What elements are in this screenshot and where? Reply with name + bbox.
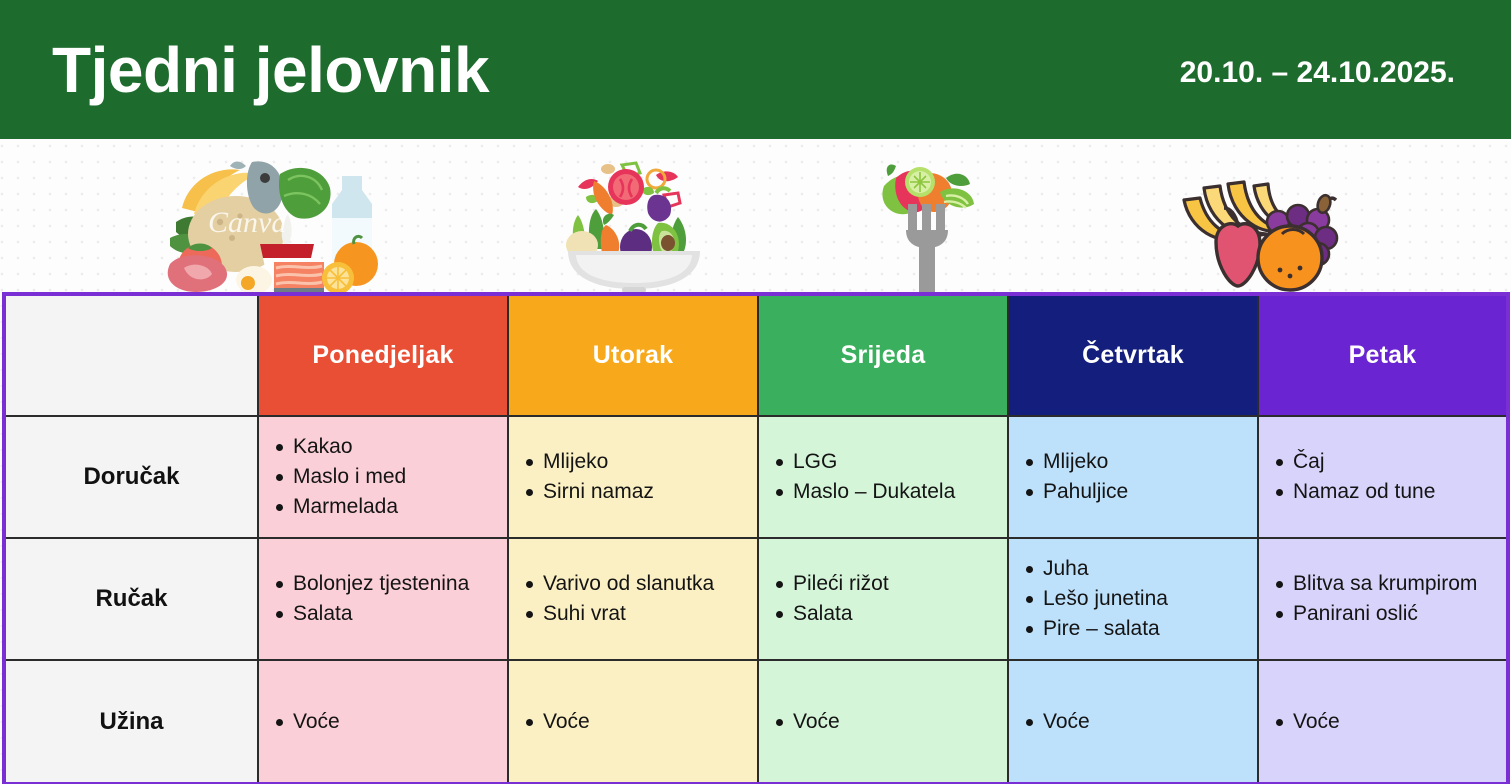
menu-item: Salata [793,599,993,629]
menu-item: Voće [1043,707,1243,737]
menu-item: Suhi vrat [543,599,743,629]
menu-item-list: JuhaLešo junetinaPire – salata [1009,554,1257,644]
menu-item-list: Voće [509,707,757,737]
menu-item-list: Voće [759,707,1007,737]
cell-dorucak-utorak: MlijekoSirni namaz [508,416,758,538]
header-banner: Tjedni jelovnik 20.10. – 24.10.2025. [0,0,1511,139]
cell-rucak-petak: Blitva sa krumpiromPanirani oslić [1258,538,1508,660]
menu-item-list: Pileći rižotSalata [759,569,1007,629]
menu-item-list: ČajNamaz od tune [1259,447,1506,507]
cell-dorucak-cetvrtak: MlijekoPahuljice [1008,416,1258,538]
menu-item: Čaj [1293,447,1492,477]
fork-with-vegetables-illustration [862,156,990,294]
meal-label-dorucak: Doručak [4,416,258,538]
header-row: Ponedjeljak Utorak Srijeda Četvrtak Peta… [4,294,1508,416]
menu-item-list: KakaoMaslo i medMarmelada [259,432,507,522]
weekly-menu-poster: Tjedni jelovnik 20.10. – 24.10.2025. [0,0,1511,784]
menu-item: Voće [1293,707,1492,737]
mixed-food-illustration: Canva [148,156,386,294]
menu-item-list: Voće [259,707,507,737]
page-title: Tjedni jelovnik [52,38,489,102]
meal-label-rucak: Ručak [4,538,258,660]
day-header-ponedjeljak: Ponedjeljak [258,294,508,416]
cell-dorucak-ponedjeljak: KakaoMaslo i medMarmelada [258,416,508,538]
cell-rucak-ponedjeljak: Bolonjez tjesteninaSalata [258,538,508,660]
table-row-rucak: Ručak Bolonjez tjesteninaSalata Varivo o… [4,538,1508,660]
menu-item-list: Voće [1259,707,1506,737]
menu-item: Juha [1043,554,1243,584]
table-body: Doručak KakaoMaslo i medMarmelada Mlijek… [4,416,1508,784]
menu-item: Mlijeko [1043,447,1243,477]
cell-uzina-utorak: Voće [508,660,758,784]
day-header-utorak: Utorak [508,294,758,416]
menu-item: Voće [543,707,743,737]
menu-item-list: LGGMaslo – Dukatela [759,447,1007,507]
menu-item: Marmelada [293,492,493,522]
fruits-illustration [1172,164,1352,294]
cell-dorucak-petak: ČajNamaz od tune [1258,416,1508,538]
svg-text:Canva: Canva [208,206,286,239]
menu-item: Mlijeko [543,447,743,477]
cell-uzina-ponedjeljak: Voće [258,660,508,784]
menu-item: Maslo – Dukatela [793,477,993,507]
menu-item-list: MlijekoSirni namaz [509,447,757,507]
day-header-cetvrtak: Četvrtak [1008,294,1258,416]
weekly-menu-table: Ponedjeljak Utorak Srijeda Četvrtak Peta… [2,292,1510,784]
cell-uzina-petak: Voće [1258,660,1508,784]
table-corner-cell [4,294,258,416]
meal-label-uzina: Užina [4,660,258,784]
menu-item: Blitva sa krumpirom [1293,569,1492,599]
cell-uzina-cetvrtak: Voće [1008,660,1258,784]
cell-dorucak-srijeda: LGGMaslo – Dukatela [758,416,1008,538]
menu-item: Pileći rižot [793,569,993,599]
menu-item: Voće [293,707,493,737]
menu-item: Panirani oslić [1293,599,1492,629]
cell-rucak-cetvrtak: JuhaLešo junetinaPire – salata [1008,538,1258,660]
table-header: Ponedjeljak Utorak Srijeda Četvrtak Peta… [4,294,1508,416]
date-range: 20.10. – 24.10.2025. [1180,50,1455,90]
menu-item-list: MlijekoPahuljice [1009,447,1257,507]
menu-item-list: Varivo od slanutkaSuhi vrat [509,569,757,629]
menu-item: Varivo od slanutka [543,569,743,599]
cell-uzina-srijeda: Voće [758,660,1008,784]
menu-item: LGG [793,447,993,477]
table-row-uzina: Užina Voće Voće Voće Voće Voće [4,660,1508,784]
menu-item: Pahuljice [1043,477,1243,507]
menu-item: Kakao [293,432,493,462]
salad-bowl-illustration [560,159,708,294]
table-row-dorucak: Doručak KakaoMaslo i medMarmelada Mlijek… [4,416,1508,538]
menu-item: Sirni namaz [543,477,743,507]
menu-item: Maslo i med [293,462,493,492]
day-header-petak: Petak [1258,294,1508,416]
menu-item-list: Blitva sa krumpiromPanirani oslić [1259,569,1506,629]
illustration-strip: Canva [0,139,1511,294]
cell-rucak-utorak: Varivo od slanutkaSuhi vrat [508,538,758,660]
day-header-srijeda: Srijeda [758,294,1008,416]
cell-rucak-srijeda: Pileći rižotSalata [758,538,1008,660]
menu-item: Namaz od tune [1293,477,1492,507]
menu-item: Bolonjez tjestenina [293,569,493,599]
menu-item: Pire – salata [1043,614,1243,644]
menu-item-list: Voće [1009,707,1257,737]
menu-item-list: Bolonjez tjesteninaSalata [259,569,507,629]
menu-item: Salata [293,599,493,629]
menu-item: Lešo junetina [1043,584,1243,614]
menu-item: Voće [793,707,993,737]
